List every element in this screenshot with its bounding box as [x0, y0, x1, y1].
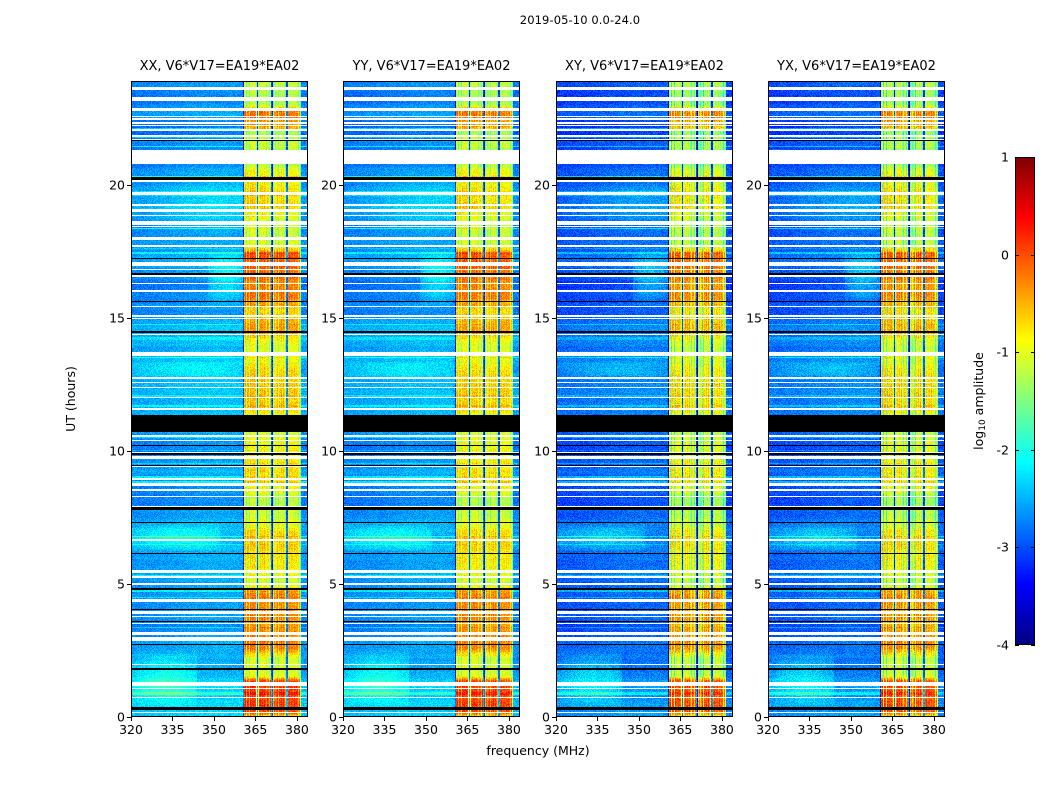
colorbar-tick-label: -3 [981, 540, 1009, 555]
y-axis-label: UT (hours) [63, 366, 78, 432]
y-tick-label: 10 [524, 443, 550, 458]
y-tick-label: 20 [524, 177, 550, 192]
x-tick-mark [297, 717, 298, 721]
x-tick-label: 350 [627, 722, 651, 737]
y-tick-mark [552, 451, 556, 452]
y-tick-label: 20 [99, 177, 125, 192]
y-tick-mark [127, 318, 131, 319]
y-tick-mark [339, 717, 343, 718]
y-tick-mark [764, 318, 768, 319]
spectrogram-panel-xx[interactable] [131, 81, 308, 717]
y-tick-mark [339, 584, 343, 585]
figure-suptitle: 2019-05-10 0.0-24.0 [520, 13, 640, 27]
x-tick-label: 365 [881, 722, 905, 737]
x-tick-mark [768, 717, 769, 721]
colorbar-label-tail: amplitude [971, 352, 986, 419]
colorbar-tick-mark-inner [1015, 255, 1019, 256]
x-tick-mark [639, 717, 640, 721]
y-tick-mark [339, 451, 343, 452]
colorbar-tick-mark [1031, 352, 1035, 353]
x-tick-label: 365 [456, 722, 480, 737]
x-tick-label: 380 [497, 722, 521, 737]
colorbar-tick-label: -4 [981, 638, 1009, 653]
y-tick-label: 0 [736, 710, 762, 725]
colorbar-label-subscript: 10 [978, 419, 988, 430]
colorbar-tick-label: 0 [981, 247, 1009, 262]
x-axis-label: frequency (MHz) [486, 743, 589, 758]
y-tick-label: 10 [99, 443, 125, 458]
y-tick-mark [552, 185, 556, 186]
colorbar-tick-mark [1031, 547, 1035, 548]
x-tick-mark [556, 717, 557, 721]
x-tick-label: 380 [922, 722, 946, 737]
y-tick-mark [764, 584, 768, 585]
x-tick-label: 350 [414, 722, 438, 737]
x-tick-mark [467, 717, 468, 721]
figure-canvas: 2019-05-10 0.0-24.0 XX, V6*V17=EA19*EA02… [0, 0, 1050, 800]
colorbar-tick-mark-inner [1015, 547, 1019, 548]
y-tick-mark [127, 451, 131, 452]
x-tick-mark [172, 717, 173, 721]
x-tick-label: 335 [373, 722, 397, 737]
x-tick-mark [509, 717, 510, 721]
spectrogram-panel-yx[interactable] [768, 81, 945, 717]
y-tick-label: 10 [311, 443, 337, 458]
y-tick-label: 20 [736, 177, 762, 192]
colorbar-tick-mark-inner [1015, 352, 1019, 353]
colorbar-tick-mark [1031, 450, 1035, 451]
y-tick-mark [764, 717, 768, 718]
y-tick-label: 0 [311, 710, 337, 725]
x-tick-mark [722, 717, 723, 721]
x-tick-label: 335 [798, 722, 822, 737]
colorbar-tick-mark [1031, 645, 1035, 646]
y-tick-mark [127, 185, 131, 186]
y-tick-mark [552, 584, 556, 585]
y-tick-label: 15 [736, 310, 762, 325]
y-tick-mark [552, 318, 556, 319]
y-tick-label: 5 [524, 576, 550, 591]
x-tick-label: 365 [669, 722, 693, 737]
spectrogram-panel-xy[interactable] [556, 81, 733, 717]
x-tick-mark [384, 717, 385, 721]
colorbar-label-text: log [971, 431, 986, 450]
x-tick-mark [255, 717, 256, 721]
y-tick-label: 0 [524, 710, 550, 725]
y-tick-mark [764, 185, 768, 186]
panel-title-xx: XX, V6*V17=EA19*EA02 [140, 59, 300, 74]
x-tick-mark [851, 717, 852, 721]
y-tick-mark [127, 584, 131, 585]
x-tick-mark [680, 717, 681, 721]
x-tick-label: 350 [839, 722, 863, 737]
y-tick-mark [127, 717, 131, 718]
y-tick-label: 15 [524, 310, 550, 325]
y-tick-label: 10 [736, 443, 762, 458]
colorbar-tick-mark-inner [1015, 157, 1019, 158]
colorbar[interactable] [1015, 157, 1035, 645]
colorbar-tick-mark [1031, 255, 1035, 256]
spectrogram-panel-yy[interactable] [343, 81, 520, 717]
colorbar-tick-mark-inner [1015, 645, 1019, 646]
y-tick-label: 0 [99, 710, 125, 725]
x-tick-label: 380 [285, 722, 309, 737]
y-tick-mark [552, 717, 556, 718]
x-tick-mark [597, 717, 598, 721]
colorbar-tick-mark [1031, 157, 1035, 158]
x-tick-mark [426, 717, 427, 721]
x-tick-mark [892, 717, 893, 721]
x-tick-mark [934, 717, 935, 721]
y-tick-label: 5 [736, 576, 762, 591]
y-tick-label: 5 [99, 576, 125, 591]
x-tick-mark [343, 717, 344, 721]
x-tick-mark [214, 717, 215, 721]
x-tick-label: 335 [586, 722, 610, 737]
y-tick-label: 5 [311, 576, 337, 591]
y-tick-mark [339, 318, 343, 319]
x-tick-label: 380 [710, 722, 734, 737]
panel-title-xy: XY, V6*V17=EA19*EA02 [565, 59, 724, 74]
y-tick-label: 20 [311, 177, 337, 192]
x-tick-label: 335 [161, 722, 185, 737]
x-tick-label: 350 [202, 722, 226, 737]
y-tick-label: 15 [99, 310, 125, 325]
x-tick-label: 365 [244, 722, 268, 737]
y-tick-mark [339, 185, 343, 186]
x-tick-mark [131, 717, 132, 721]
panel-title-yx: YX, V6*V17=EA19*EA02 [777, 59, 936, 74]
colorbar-label: log10 amplitude [971, 352, 988, 450]
x-tick-mark [809, 717, 810, 721]
y-tick-mark [764, 451, 768, 452]
panel-title-yy: YY, V6*V17=EA19*EA02 [353, 59, 511, 74]
colorbar-tick-label: 1 [981, 150, 1009, 165]
colorbar-tick-mark-inner [1015, 450, 1019, 451]
y-tick-label: 15 [311, 310, 337, 325]
